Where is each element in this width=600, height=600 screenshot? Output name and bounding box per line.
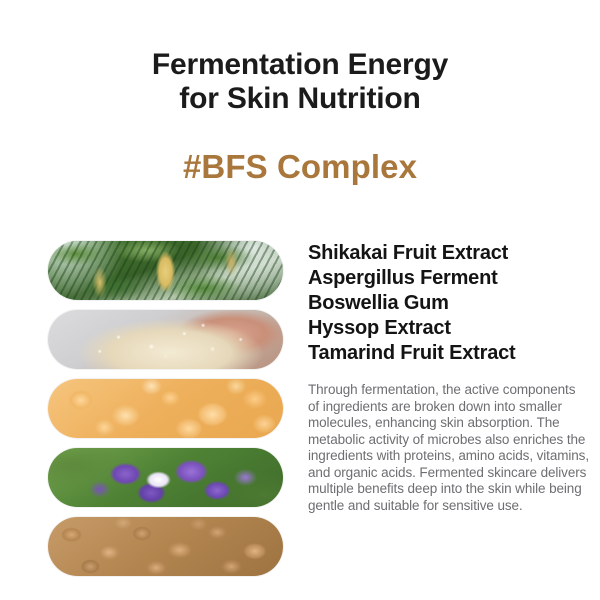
ingredient-name: Tamarind Fruit Extract (308, 341, 590, 366)
aspergillus-ferment-photo (48, 310, 283, 369)
ingredient-image-tamarind (48, 517, 283, 576)
ingredient-image-aspergillus (48, 310, 283, 369)
ingredient-image-shikakai (48, 241, 283, 300)
page-title-line-1: Fermentation Energy (0, 48, 600, 82)
ingredient-image-hyssop (48, 448, 283, 507)
hyssop-photo (48, 448, 283, 507)
ingredient-name: Aspergillus Ferment (308, 266, 590, 291)
ingredient-image-gallery (48, 241, 283, 576)
content-area: Shikakai Fruit Extract Aspergillus Ferme… (0, 241, 600, 581)
ingredient-text-column: Shikakai Fruit Extract Aspergillus Ferme… (308, 241, 590, 514)
boswellia-gum-photo (48, 379, 283, 438)
complex-name-heading: #BFS Complex (0, 148, 600, 186)
ingredient-name: Hyssop Extract (308, 316, 590, 341)
ingredient-list: Shikakai Fruit Extract Aspergillus Ferme… (308, 241, 590, 366)
page-header: Fermentation Energy for Skin Nutrition (0, 48, 600, 116)
shikakai-photo (48, 241, 283, 300)
page-title-line-2: for Skin Nutrition (0, 82, 600, 116)
description-paragraph: Through fermentation, the active compone… (308, 382, 590, 514)
tamarind-photo (48, 517, 283, 576)
ingredient-image-boswellia (48, 379, 283, 438)
ingredient-name: Shikakai Fruit Extract (308, 241, 590, 266)
product-ingredient-infographic: Fermentation Energy for Skin Nutrition #… (0, 0, 600, 600)
ingredient-name: Boswellia Gum (308, 291, 590, 316)
